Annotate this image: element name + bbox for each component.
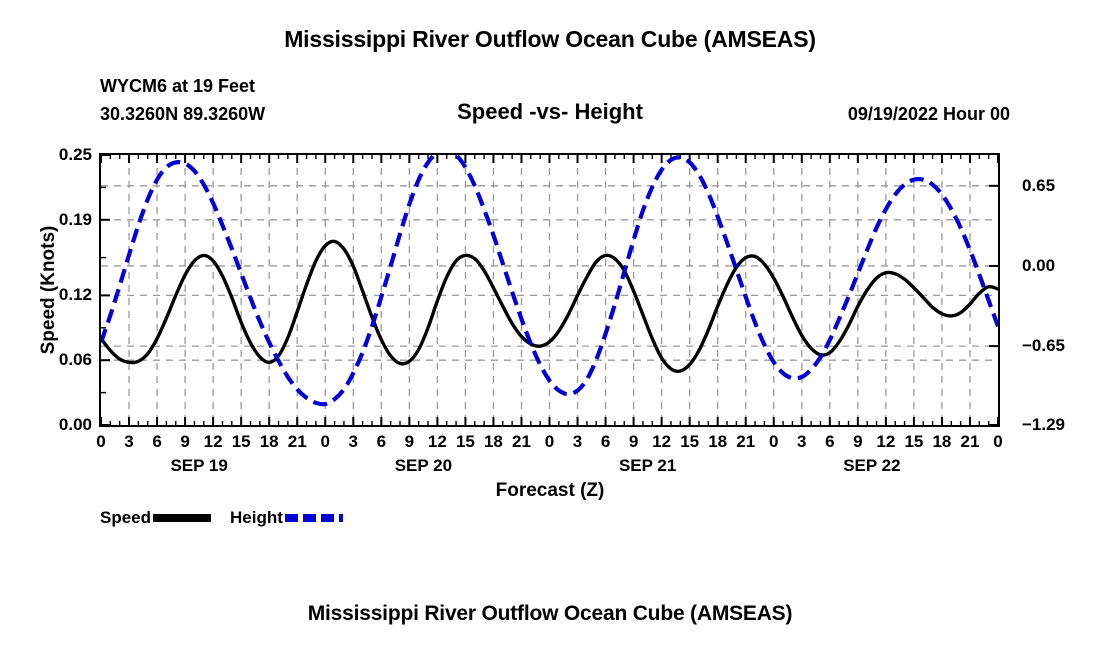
gridlines: [101, 155, 998, 425]
x-axis-title: Forecast (Z): [0, 480, 1100, 502]
x-axis-tick-label: 21: [512, 432, 531, 452]
page-title: Mississippi River Outflow Ocean Cube (AM…: [0, 26, 1100, 53]
y-axis-left-tick-label: 0.25: [40, 145, 92, 165]
legend-item-label: Height: [230, 508, 283, 528]
plot-svg: [101, 155, 998, 425]
x-axis-tick-label: 18: [932, 432, 951, 452]
x-axis-tick-label: 15: [456, 432, 475, 452]
x-axis-tick-label: 0: [96, 432, 105, 452]
x-axis-tick-label: 21: [961, 432, 980, 452]
x-axis-tick-label: 3: [124, 432, 133, 452]
x-axis-tick-label: 9: [629, 432, 638, 452]
legend-item: Speed: [100, 508, 211, 528]
x-axis-tick-label: 18: [708, 432, 727, 452]
x-axis-tick-label: 0: [769, 432, 778, 452]
y-axis-right-tick-label: −1.29: [1022, 415, 1082, 435]
y-axis-left-tick-label: 0.00: [40, 415, 92, 435]
legend-swatch-solid-icon: [153, 514, 211, 522]
x-axis-tick-label: 3: [349, 432, 358, 452]
plot-area: [99, 153, 1000, 427]
y-axis-right-tick-label: −0.65: [1022, 336, 1082, 356]
legend-swatch-dashed-icon: [285, 514, 343, 522]
forecast-datestamp: 09/19/2022 Hour 00: [848, 104, 1010, 125]
x-axis-tick-label: 12: [428, 432, 447, 452]
x-axis-tick-label: 21: [736, 432, 755, 452]
x-axis-tick-label: 18: [260, 432, 279, 452]
x-axis-tick-label: 21: [288, 432, 307, 452]
x-axis-tick-label: 6: [377, 432, 386, 452]
x-axis-tick-label: 12: [876, 432, 895, 452]
x-axis-tick-label: 6: [825, 432, 834, 452]
x-axis-tick-label: 12: [204, 432, 223, 452]
legend-item-label: Speed: [100, 508, 151, 528]
y-axis-left-title: Speed (Knots): [38, 190, 60, 390]
x-axis-tick-label: 15: [680, 432, 699, 452]
x-axis-tick-label: 15: [232, 432, 251, 452]
x-axis-tick-label: 12: [652, 432, 671, 452]
x-axis-tick-label: 0: [993, 432, 1002, 452]
legend-item: Height: [230, 508, 343, 528]
station-label: WYCM6 at 19 Feet: [100, 76, 255, 97]
x-axis-day-label: SEP 21: [619, 456, 676, 476]
x-axis-tick-label: 6: [152, 432, 161, 452]
x-axis-tick-label: 9: [405, 432, 414, 452]
x-axis-tick-label: 0: [545, 432, 554, 452]
x-axis-tick-label: 6: [601, 432, 610, 452]
chart-page: Mississippi River Outflow Ocean Cube (AM…: [0, 0, 1100, 650]
x-axis-tick-label: 3: [797, 432, 806, 452]
x-axis-tick-label: 0: [321, 432, 330, 452]
y-axis-right-tick-label: 0.65: [1022, 176, 1082, 196]
x-axis-tick-label: 15: [904, 432, 923, 452]
x-axis-tick-label: 3: [573, 432, 582, 452]
x-axis-day-label: SEP 22: [843, 456, 900, 476]
y-axis-right-tick-label: 0.00: [1022, 256, 1082, 276]
x-axis-day-label: SEP 20: [395, 456, 452, 476]
x-axis-tick-label: 18: [484, 432, 503, 452]
x-axis-day-label: SEP 19: [170, 456, 227, 476]
x-axis-tick-label: 9: [180, 432, 189, 452]
footer-title: Mississippi River Outflow Ocean Cube (AM…: [0, 602, 1100, 626]
x-axis-tick-label: 9: [853, 432, 862, 452]
